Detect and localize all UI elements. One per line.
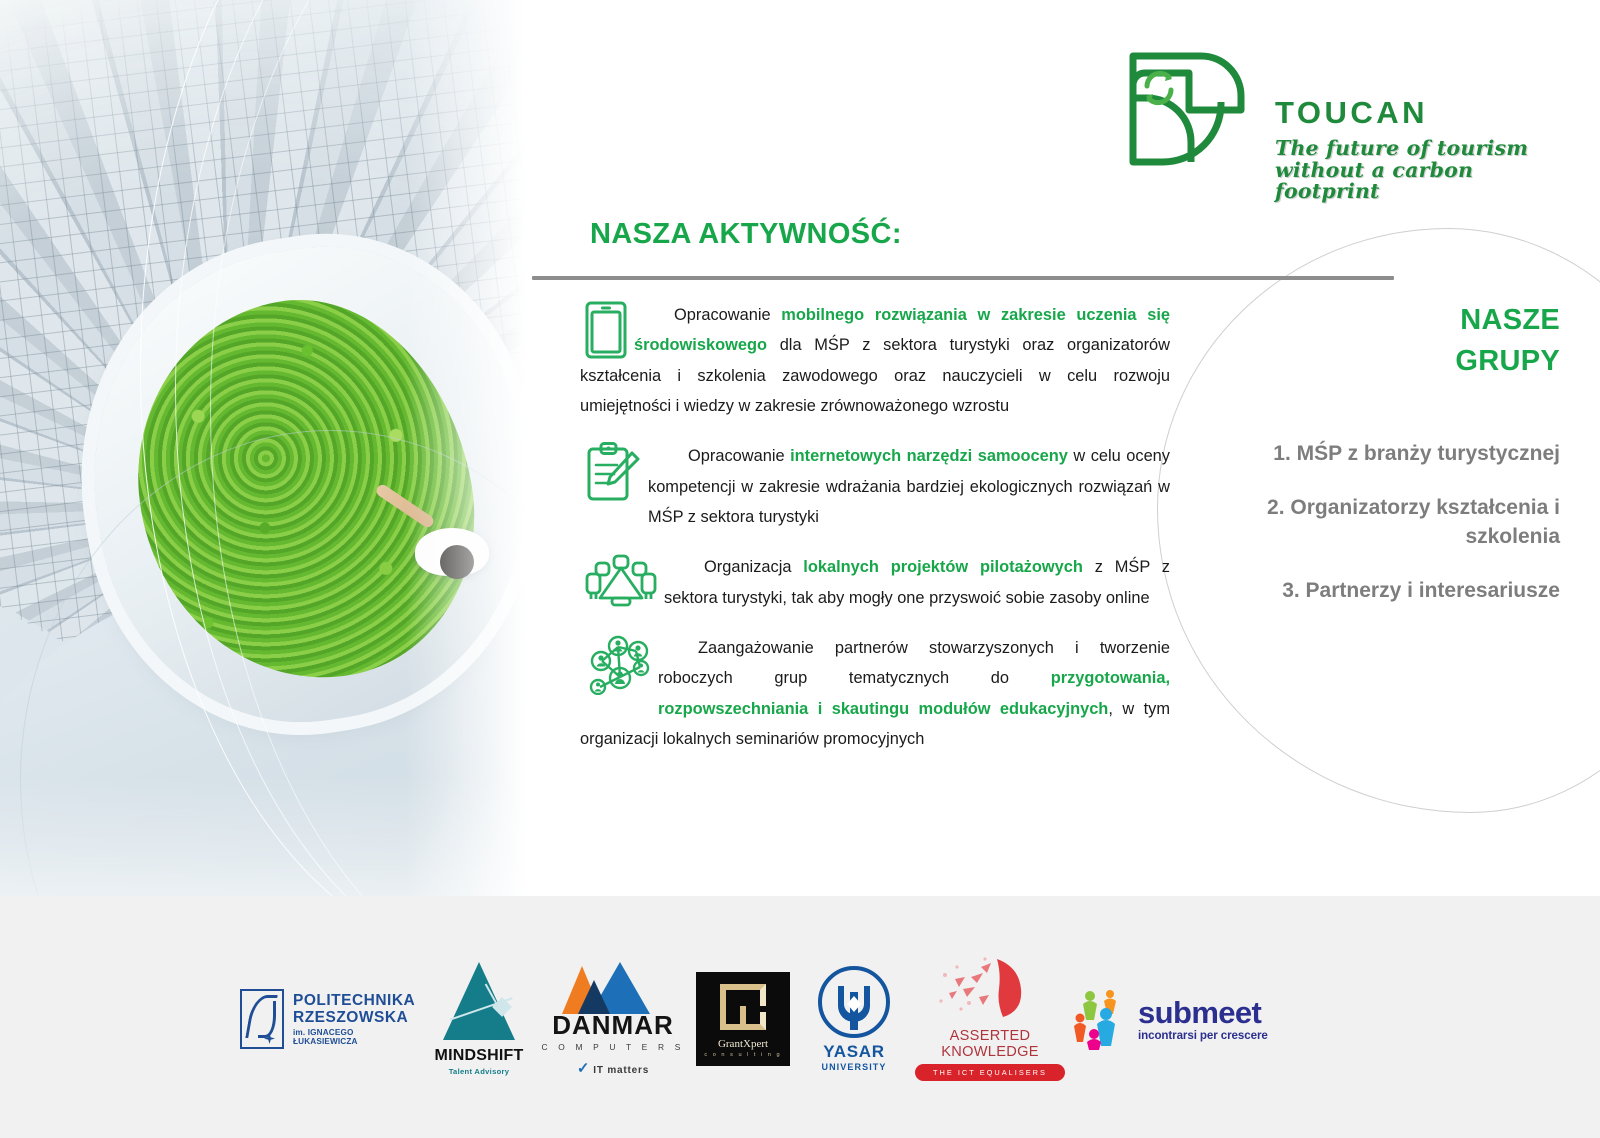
activity-item: Organizacja lokalnych projektów pilotażo… [580, 552, 1170, 613]
submeet-text: submeet incontrarsi per crescere [1138, 997, 1268, 1042]
target-groups-title: NASZE GRUPY [1190, 300, 1560, 382]
asserted-knowledge-face-icon [935, 957, 1045, 1019]
activity-text: Opracowanie mobilnego rozwiązania w zakr… [580, 300, 1170, 421]
danmar-it-matters-label: IT matters [593, 1065, 649, 1076]
grantxpert-box: GrantXpert c o n s u l t i n g [696, 972, 790, 1066]
conference-table-icon [584, 552, 658, 610]
list-item: 2. Organizatorzy kształcenia i szkolenia [1190, 494, 1560, 550]
check-icon: ✓ [577, 1060, 590, 1077]
partner-tagline: c o n s u l t i n g [704, 1052, 781, 1058]
activity-text: Organizacja lokalnych projektów pilotażo… [580, 552, 1170, 613]
title-divider [532, 276, 1394, 280]
partner-name: submeet [1138, 997, 1268, 1028]
activity-text: Zaangażowanie partnerów stowarzyszonych … [580, 633, 1170, 754]
activity-highlight: internetowych narzędzi samooceny [790, 447, 1068, 465]
yasar-circle [818, 966, 890, 1038]
photo-bottom-fade [0, 776, 545, 896]
partner-name: MINDSHIFT [420, 1047, 538, 1065]
logo-tagline-line2: without a carbon footprint [1275, 158, 1473, 204]
partner-tagline: C O M P U T E R S [538, 1042, 688, 1052]
target-groups-panel: NASZE GRUPY 1. MŚP z branży turystycznej… [1190, 300, 1560, 631]
activity-plain: Opracowanie [674, 306, 781, 324]
activity-plain: Opracowanie [688, 447, 790, 465]
partner-logos: POLITECHNIKA RZESZOWSKA im. IGNACEGO ŁUK… [240, 924, 1360, 1114]
partner-name: ASSERTED KNOWLEDGE [910, 1028, 1070, 1060]
mindshift-triangle-icon [443, 962, 515, 1040]
logo-tagline: The future of tourism without a carbon f… [1275, 138, 1550, 203]
partner-logo-politechnika-rzeszowska: POLITECHNIKA RZESZOWSKA im. IGNACEGO ŁUK… [240, 989, 420, 1049]
activity-item: Zaangażowanie partnerów stowarzyszonych … [580, 633, 1170, 754]
activity-item: Opracowanie mobilnego rozwiązania w zakr… [580, 300, 1170, 421]
politechnika-text: POLITECHNIKA RZESZOWSKA im. IGNACEGO ŁUK… [293, 992, 420, 1047]
target-groups-title-line2: GRUPY [1455, 345, 1560, 377]
toucan-logo: TOUCAN The future of tourism without a c… [1115, 40, 1545, 180]
clipboard-pencil-icon [584, 441, 642, 503]
activity-plain: Organizacja [704, 558, 803, 576]
activity-text-run: Organizacja lokalnych projektów pilotażo… [664, 558, 1170, 606]
partner-name-line3: im. IGNACEGO ŁUKASIEWICZA [293, 1028, 420, 1046]
partner-tagline: THE ICT EQUALISERS [915, 1064, 1065, 1081]
logo-tagline-line1: The future of tourism [1275, 136, 1528, 160]
partner-tagline: incontrarsi per crescere [1138, 1029, 1268, 1042]
activity-text-run: Opracowanie internetowych narzędzi samoo… [648, 447, 1170, 526]
partner-tagline: UNIVERSITY [798, 1062, 910, 1072]
submeet-people-icon [1070, 988, 1132, 1050]
danmar-peaks-icon [538, 962, 688, 1014]
partner-logo-grantxpert: GrantXpert c o n s u l t i n g [688, 972, 798, 1066]
activity-highlight: lokalnych projektów pilotażowych [803, 558, 1083, 576]
partner-name: GrantXpert [718, 1038, 768, 1050]
activity-text-run: Opracowanie mobilnego rozwiązania w zakr… [580, 306, 1170, 415]
partner-logo-mindshift: MINDSHIFT Talent Advisory [420, 962, 538, 1076]
list-item: 1. MŚP z branży turystycznej [1190, 440, 1560, 468]
slide-root: TOUCAN The future of tourism without a c… [0, 0, 1600, 1138]
partner-logo-submeet: submeet incontrarsi per crescere [1070, 988, 1280, 1050]
partner-logo-yasar-university: YASAR UNIVERSITY [798, 966, 910, 1072]
activity-item: Opracowanie internetowych narzędzi samoo… [580, 441, 1170, 532]
people-network-icon [584, 633, 652, 695]
list-item: 3. Partnerzy i interesariusze [1190, 577, 1560, 605]
partners-footer: POLITECHNIKA RZESZOWSKA im. IGNACEGO ŁUK… [0, 896, 1600, 1138]
partner-logo-asserted-knowledge: ASSERTED KNOWLEDGE THE ICT EQUALISERS [910, 957, 1070, 1081]
politechnika-emblem-icon [240, 989, 284, 1049]
danmar-peak-dark [578, 980, 610, 1014]
grantxpert-g-icon [720, 984, 766, 1030]
target-groups-list: 1. MŚP z branży turystycznej 2. Organiza… [1190, 440, 1560, 605]
page-title: NASZA AKTYWNOŚĆ: [590, 218, 902, 251]
activity-text: Opracowanie internetowych narzędzi samoo… [580, 441, 1170, 532]
partner-logo-danmar-computers: DANMAR C O M P U T E R S ✓IT matters [538, 962, 688, 1077]
target-groups-title-line1: NASZE [1460, 304, 1560, 336]
activity-text-run: Zaangażowanie partnerów stowarzyszonych … [580, 639, 1170, 748]
partner-name: YASAR [798, 1042, 910, 1062]
photo-right-fade [405, 0, 545, 896]
logo-wordmark: TOUCAN [1275, 95, 1428, 131]
danmar-it-matters: ✓IT matters [538, 1059, 688, 1077]
partner-name-line1: POLITECHNIKA [293, 992, 420, 1009]
activities-list: Opracowanie mobilnego rozwiązania w zakr… [580, 300, 1170, 774]
politechnika-star-icon [264, 1033, 275, 1044]
toucan-bird-icon [1115, 40, 1255, 175]
partner-tagline: Talent Advisory [420, 1067, 538, 1076]
partner-name: DANMAR [538, 1012, 688, 1038]
mobile-phone-icon [584, 300, 628, 360]
partner-name-line2: RZESZOWSKA [293, 1009, 420, 1026]
yasar-tulip-icon [833, 982, 875, 1030]
spiral-staircase-photo [0, 0, 545, 896]
